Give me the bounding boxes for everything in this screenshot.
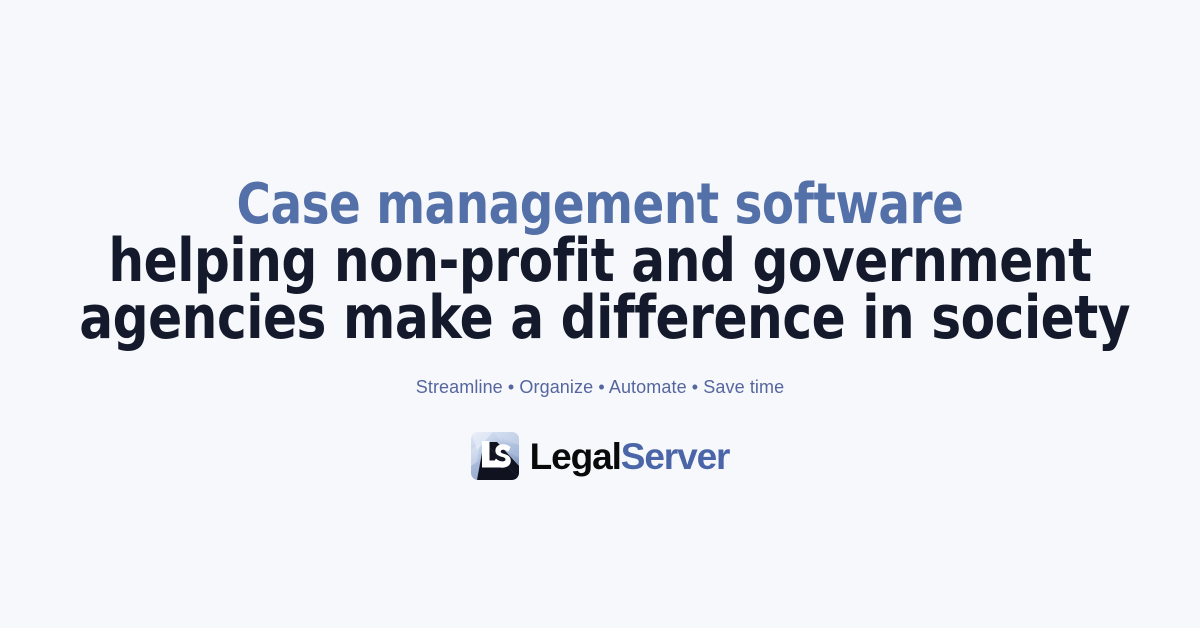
headline-line-3: agencies make a difference in society bbox=[79, 290, 1121, 347]
legalserver-wordmark: LegalServer bbox=[530, 438, 730, 475]
headline-line-2: helping non-profit and government bbox=[79, 233, 1121, 290]
legalserver-ls-monogram-icon bbox=[471, 432, 519, 480]
page-title: Case management software helping non-pro… bbox=[40, 176, 1160, 347]
legalserver-logo: LegalServer bbox=[471, 432, 730, 480]
hero-banner: Case management software helping non-pro… bbox=[0, 0, 1200, 628]
wordmark-server: Server bbox=[621, 436, 730, 477]
headline-line-1: Case management software bbox=[79, 176, 1121, 233]
wordmark-legal: Legal bbox=[530, 436, 621, 477]
tagline: Streamline • Organize • Automate • Save … bbox=[416, 377, 784, 398]
